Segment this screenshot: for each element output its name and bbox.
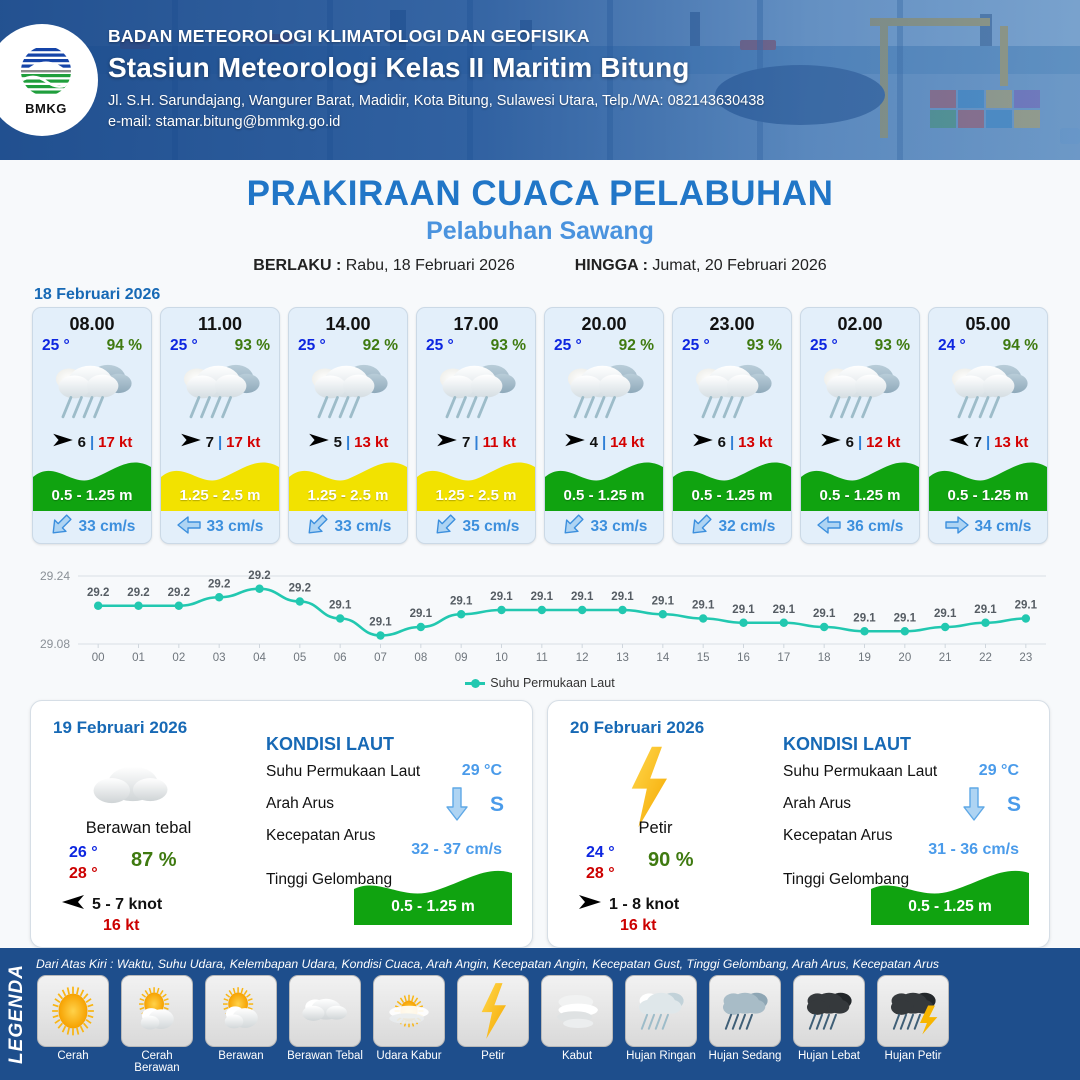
day-wind-gust: 16 kt [620, 917, 656, 935]
current-direction-arrow-icon [817, 515, 841, 540]
wave-height-value: 0.5 - 1.25 m [33, 487, 151, 504]
day-humidity: 87 % [131, 849, 177, 872]
svg-text:04: 04 [253, 652, 266, 664]
day-wave-value: 0.5 - 1.25 m [354, 898, 512, 916]
card-current-row: 32 cm/s [673, 511, 791, 543]
wind-direction-arrow-icon [180, 432, 202, 453]
current-direction-arrow-icon [305, 515, 329, 540]
svg-text:05: 05 [293, 652, 306, 664]
wave-height-value: 0.5 - 1.25 m [545, 487, 663, 504]
valid-from-label: BERLAKU : [253, 257, 341, 274]
card-temperature: 25 ° [810, 337, 838, 355]
svg-text:16: 16 [737, 652, 750, 664]
svg-text:29.1: 29.1 [773, 604, 796, 616]
svg-text:29.2: 29.2 [289, 583, 311, 595]
card-current-row: 34 cm/s [929, 511, 1047, 543]
sst-label: Suhu Permukaan Laut [266, 763, 420, 781]
card-humidity: 92 % [619, 337, 654, 355]
day-date: 20 Februari 2026 [570, 718, 704, 738]
svg-text:00: 00 [92, 652, 105, 664]
svg-text:29.1: 29.1 [652, 595, 675, 607]
svg-text:29.1: 29.1 [531, 591, 554, 603]
svg-text:29.24: 29.24 [40, 569, 70, 583]
card-temp-hum-row: 25 ° 92 % [289, 335, 407, 355]
wind-separator: | [218, 434, 222, 451]
day-temp-min: 26 ° [69, 844, 98, 862]
card-wind-row: 7 | 11 kt [417, 429, 535, 455]
wind-gust-value: 13 kt [994, 434, 1028, 451]
svg-text:19: 19 [858, 652, 871, 664]
legend-icon-tile [709, 975, 781, 1047]
card-temperature: 25 ° [426, 337, 454, 355]
current-direction-value: S [490, 793, 504, 817]
forecast-card[interactable]: 08.00 25 ° 94 % 6 | 17 kt [32, 307, 152, 544]
legend-item-list: Cerah Cerah Berawan Berawan Berawan Teba… [34, 975, 1072, 1074]
svg-text:01: 01 [132, 652, 145, 664]
wind-direction-arrow-icon [820, 432, 842, 453]
wind-gust-value: 17 kt [98, 434, 132, 451]
legend-item: Hujan Ringan [622, 975, 700, 1074]
legend-item-label: Udara Kabur [370, 1050, 448, 1062]
card-temp-hum-row: 25 ° 94 % [33, 335, 151, 355]
wind-direction-arrow-icon [948, 432, 970, 453]
page-title: PRAKIRAAN CUACA PELABUHAN [0, 174, 1080, 214]
wind-direction-arrow-icon [564, 432, 586, 453]
sst-value: 29 °C [979, 762, 1019, 780]
card-humidity: 94 % [1003, 337, 1038, 355]
wind-direction-value: 5 [334, 434, 342, 451]
legend-item-label: Berawan [202, 1050, 280, 1062]
legend-item-label: Kabut [538, 1050, 616, 1062]
card-temperature: 25 ° [682, 337, 710, 355]
legend-bar: LEGENDA Dari Atas Kiri : Waktu, Suhu Uda… [0, 948, 1080, 1080]
chart-legend-marker [465, 682, 485, 685]
day-wind-direction-arrow-icon [61, 893, 85, 916]
forecast-card[interactable]: 02.00 25 ° 93 % 6 | 12 kt [800, 307, 920, 544]
legend-icon-tile [793, 975, 865, 1047]
svg-text:29.1: 29.1 [692, 600, 715, 612]
legend-item: Udara Kabur [370, 975, 448, 1074]
legend-icon-tile [373, 975, 445, 1047]
day-wind-direction-arrow-icon [578, 893, 602, 916]
svg-text:29.1: 29.1 [813, 608, 836, 620]
current-direction-label: Arah Arus [783, 795, 851, 813]
card-temperature: 25 ° [554, 337, 582, 355]
current-speed-label: Kecepatan Arus [266, 827, 375, 845]
card-humidity: 93 % [235, 337, 270, 355]
chart-legend-label: Suhu Permukaan Laut [490, 676, 614, 690]
weather-icon [161, 355, 279, 429]
station-email: e-mail: stamar.bitung@bmmkg.go.id [108, 114, 764, 130]
wave-height-value: 0.5 - 1.25 m [801, 487, 919, 504]
card-time: 20.00 [545, 314, 663, 335]
wave-height-block: 0.5 - 1.25 m [545, 457, 663, 511]
wind-direction-arrow-icon [308, 432, 330, 453]
current-direction-arrow-icon [433, 515, 457, 540]
card-wind-row: 7 | 17 kt [161, 429, 279, 455]
wave-height-block: 0.5 - 1.25 m [673, 457, 791, 511]
wind-separator: | [730, 434, 734, 451]
legend-item: Kabut [538, 975, 616, 1074]
current-speed-value: 33 cm/s [591, 518, 648, 536]
legend-icon-tile [541, 975, 613, 1047]
valid-until: HINGGA : Jumat, 20 Februari 2026 [575, 257, 827, 275]
current-speed-label: Kecepatan Arus [783, 827, 892, 845]
svg-text:03: 03 [213, 652, 226, 664]
legend-icon-tile [37, 975, 109, 1047]
card-current-row: 33 cm/s [161, 511, 279, 543]
day-temp-max: 28 ° [586, 865, 615, 883]
legend-item-label: Berawan Tebal [286, 1050, 364, 1062]
svg-text:29.2: 29.2 [248, 570, 270, 582]
card-time: 17.00 [417, 314, 535, 335]
wind-gust-value: 17 kt [226, 434, 260, 451]
card-current-row: 35 cm/s [417, 511, 535, 543]
sst-value: 29 °C [462, 762, 502, 780]
wave-height-block: 1.25 - 2.5 m [289, 457, 407, 511]
legend-item: Hujan Petir [874, 975, 952, 1074]
legend-side-title-text: LEGENDA [6, 964, 28, 1064]
day-wave-value: 0.5 - 1.25 m [871, 898, 1029, 916]
card-current-row: 33 cm/s [545, 511, 663, 543]
current-direction-arrow-icon [963, 787, 985, 826]
legend-icon-tile [457, 975, 529, 1047]
wave-height-value: 1.25 - 2.5 m [417, 487, 535, 504]
legend-item: Hujan Sedang [706, 975, 784, 1074]
svg-text:13: 13 [616, 652, 629, 664]
wind-direction-value: 7 [974, 434, 982, 451]
day-date: 19 Februari 2026 [53, 718, 187, 738]
svg-text:29.1: 29.1 [974, 604, 997, 616]
validity-row: BERLAKU : Rabu, 18 Februari 2026 HINGGA … [0, 257, 1080, 275]
wind-direction-value: 4 [590, 434, 598, 451]
current-speed-value: 36 cm/s [847, 518, 904, 536]
card-temp-hum-row: 25 ° 93 % [417, 335, 535, 355]
daily-forecast-panel[interactable]: 20 Februari 2026 Petir 24 ° 28 ° 90 % 1 … [547, 700, 1050, 948]
wind-direction-value: 6 [718, 434, 726, 451]
svg-text:29.08: 29.08 [40, 637, 70, 651]
current-speed-value: 33 cm/s [207, 518, 264, 536]
day-wind-row: 5 - 7 knot [61, 893, 162, 916]
legend-item-label: Hujan Lebat [790, 1050, 868, 1062]
current-direction-arrow-icon [561, 515, 585, 540]
svg-text:09: 09 [455, 652, 468, 664]
station-name: Stasiun Meteorologi Kelas II Maritim Bit… [108, 52, 764, 84]
legend-body: Dari Atas Kiri : Waktu, Suhu Udara, Kele… [34, 948, 1080, 1080]
svg-text:29.1: 29.1 [894, 612, 917, 624]
svg-text:11: 11 [536, 652, 548, 664]
wind-direction-arrow-icon [436, 432, 458, 453]
legend-item: Berawan [202, 975, 280, 1074]
card-wind-row: 6 | 12 kt [801, 429, 919, 455]
card-current-row: 33 cm/s [289, 511, 407, 543]
card-temp-hum-row: 25 ° 93 % [673, 335, 791, 355]
svg-text:14: 14 [656, 652, 669, 664]
svg-text:29.2: 29.2 [87, 587, 109, 599]
page-subtitle: Pelabuhan Sawang [0, 217, 1080, 246]
station-address: Jl. S.H. Sarundajang, Wangurer Barat, Ma… [108, 93, 764, 109]
wind-separator: | [90, 434, 94, 451]
card-time: 11.00 [161, 314, 279, 335]
legend-item: Cerah Berawan [118, 975, 196, 1074]
daily-forecast-panel[interactable]: 19 Februari 2026 Berawan tebal 26 ° 28 °… [30, 700, 533, 948]
weather-icon [929, 355, 1047, 429]
svg-text:22: 22 [979, 652, 992, 664]
wind-separator: | [858, 434, 862, 451]
wind-direction-value: 7 [206, 434, 214, 451]
svg-text:08: 08 [414, 652, 427, 664]
legend-item-label: Cerah Berawan [118, 1050, 196, 1074]
daily-forecast-list: 19 Februari 2026 Berawan tebal 26 ° 28 °… [0, 690, 1080, 948]
current-speed-value: 35 cm/s [463, 518, 520, 536]
day-wave-shape-icon [354, 867, 512, 925]
day-wave-shape-icon [871, 867, 1029, 925]
svg-text:29.1: 29.1 [329, 600, 352, 612]
sea-condition-title: KONDISI LAUT [266, 734, 394, 755]
svg-text:29.1: 29.1 [732, 604, 755, 616]
card-humidity: 92 % [363, 337, 398, 355]
weather-icon [289, 355, 407, 429]
legend-item-label: Petir [454, 1050, 532, 1062]
svg-text:29.2: 29.2 [208, 578, 230, 590]
chart-legend: Suhu Permukaan Laut [0, 676, 1080, 690]
wind-direction-value: 7 [462, 434, 470, 451]
svg-text:29.1: 29.1 [410, 608, 433, 620]
svg-text:29.2: 29.2 [127, 587, 149, 599]
legend-icon-tile [877, 975, 949, 1047]
current-direction-arrow-icon [945, 515, 969, 540]
weather-icon [673, 355, 791, 429]
card-humidity: 93 % [491, 337, 526, 355]
current-speed-value: 31 - 36 cm/s [928, 841, 1019, 859]
svg-text:29.2: 29.2 [168, 587, 190, 599]
weather-icon [33, 355, 151, 429]
bmkg-logo-text: BMKG [25, 101, 67, 116]
forecast-card[interactable]: 17.00 25 ° 93 % 7 | 11 kt [416, 307, 536, 544]
svg-text:02: 02 [172, 652, 185, 664]
forecast-card[interactable]: 23.00 25 ° 93 % 6 | 13 kt [672, 307, 792, 544]
legend-icon-tile [121, 975, 193, 1047]
svg-text:17: 17 [777, 652, 790, 664]
card-temperature: 25 ° [42, 337, 70, 355]
wind-gust-value: 11 kt [483, 434, 516, 451]
weather-icon [417, 355, 535, 429]
wind-separator: | [474, 434, 478, 451]
day-wind-row: 1 - 8 knot [578, 893, 679, 916]
wind-gust-value: 14 kt [610, 434, 644, 451]
legend-icon-tile [625, 975, 697, 1047]
current-speed-value: 33 cm/s [335, 518, 392, 536]
card-current-row: 36 cm/s [801, 511, 919, 543]
header-banner: BMKG BADAN METEOROLOGI KLIMATOLOGI DAN G… [0, 0, 1080, 160]
wind-separator: | [602, 434, 606, 451]
card-wind-row: 6 | 17 kt [33, 429, 151, 455]
weather-icon [545, 355, 663, 429]
card-temp-hum-row: 24 ° 94 % [929, 335, 1047, 355]
svg-text:18: 18 [818, 652, 831, 664]
svg-text:29.1: 29.1 [1015, 600, 1038, 612]
wind-direction-value: 6 [846, 434, 854, 451]
wind-direction-value: 6 [78, 434, 86, 451]
svg-text:29.1: 29.1 [490, 591, 513, 603]
card-humidity: 93 % [875, 337, 910, 355]
legend-item: Cerah [34, 975, 112, 1074]
forecast-card[interactable]: 11.00 25 ° 93 % 7 | 17 kt [160, 307, 280, 544]
card-wind-row: 7 | 13 kt [929, 429, 1047, 455]
wind-separator: | [346, 434, 350, 451]
legend-icon-tile [289, 975, 361, 1047]
current-direction-arrow-icon [49, 515, 73, 540]
current-direction-arrow-icon [446, 787, 468, 826]
legend-note: Dari Atas Kiri : Waktu, Suhu Udara, Kele… [34, 952, 1072, 975]
current-speed-value: 32 - 37 cm/s [411, 841, 502, 859]
wave-height-block: 0.5 - 1.25 m [33, 457, 151, 511]
day-temp-min: 24 ° [586, 844, 615, 862]
forecast-date-label: 18 Februari 2026 [34, 286, 1080, 304]
legend-icon-tile [205, 975, 277, 1047]
card-time: 14.00 [289, 314, 407, 335]
day-weather-icon [83, 749, 179, 825]
legend-item-label: Hujan Ringan [622, 1050, 700, 1062]
svg-text:29.1: 29.1 [611, 591, 634, 603]
card-time: 02.00 [801, 314, 919, 335]
legend-item: Hujan Lebat [790, 975, 868, 1074]
wave-height-value: 1.25 - 2.5 m [161, 487, 279, 504]
svg-text:29.1: 29.1 [853, 612, 876, 624]
svg-text:07: 07 [374, 652, 387, 664]
wave-height-value: 0.5 - 1.25 m [929, 487, 1047, 504]
card-wind-row: 5 | 13 kt [289, 429, 407, 455]
current-speed-value: 33 cm/s [79, 518, 136, 536]
card-temp-hum-row: 25 ° 92 % [545, 335, 663, 355]
svg-text:15: 15 [697, 652, 710, 664]
day-weather-icon [600, 749, 696, 825]
svg-text:29.1: 29.1 [571, 591, 594, 603]
current-speed-value: 34 cm/s [975, 518, 1032, 536]
legend-item-label: Hujan Petir [874, 1050, 952, 1062]
svg-text:21: 21 [939, 652, 952, 664]
wind-gust-value: 13 kt [354, 434, 388, 451]
day-wind-speed: 5 - 7 knot [92, 896, 162, 914]
current-direction-arrow-icon [177, 515, 201, 540]
svg-text:29.1: 29.1 [450, 595, 473, 607]
card-wind-row: 6 | 13 kt [673, 429, 791, 455]
wave-height-block: 0.5 - 1.25 m [801, 457, 919, 511]
sst-chart-svg: 29.2429.0829.20029.20129.20229.20329.204… [20, 554, 1060, 674]
svg-text:10: 10 [495, 652, 508, 664]
valid-until-label: HINGGA : [575, 257, 648, 274]
wind-direction-arrow-icon [692, 432, 714, 453]
card-humidity: 94 % [107, 337, 142, 355]
wind-gust-value: 13 kt [738, 434, 772, 451]
day-wind-gust: 16 kt [103, 917, 139, 935]
card-wind-row: 4 | 14 kt [545, 429, 663, 455]
legend-item: Petir [454, 975, 532, 1074]
card-humidity: 93 % [747, 337, 782, 355]
current-direction-value: S [1007, 793, 1021, 817]
current-direction-label: Arah Arus [266, 795, 334, 813]
card-temp-hum-row: 25 ° 93 % [161, 335, 279, 355]
svg-text:06: 06 [334, 652, 347, 664]
sst-chart: 29.2429.0829.20029.20129.20229.20329.204… [20, 554, 1060, 674]
card-time: 23.00 [673, 314, 791, 335]
day-wave-block: 0.5 - 1.25 m [871, 867, 1029, 925]
sst-label: Suhu Permukaan Laut [783, 763, 937, 781]
svg-text:20: 20 [898, 652, 911, 664]
forecast-card-list: 08.00 25 ° 94 % 6 | 17 kt [0, 307, 1080, 544]
svg-text:29.1: 29.1 [934, 608, 957, 620]
card-time: 05.00 [929, 314, 1047, 335]
card-temperature: 24 ° [938, 337, 966, 355]
poster-root: BMKG BADAN METEOROLOGI KLIMATOLOGI DAN G… [0, 0, 1080, 1080]
agency-name: BADAN METEOROLOGI KLIMATOLOGI DAN GEOFIS… [108, 26, 764, 47]
legend-item-label: Hujan Sedang [706, 1050, 784, 1062]
weather-icon [801, 355, 919, 429]
card-time: 08.00 [33, 314, 151, 335]
forecast-card[interactable]: 14.00 25 ° 92 % 5 | 13 kt [288, 307, 408, 544]
valid-from-value: Rabu, 18 Februari 2026 [346, 257, 515, 274]
wave-height-block: 0.5 - 1.25 m [929, 457, 1047, 511]
current-direction-arrow-icon [689, 515, 713, 540]
card-temp-hum-row: 25 ° 93 % [801, 335, 919, 355]
legend-item: Berawan Tebal [286, 975, 364, 1074]
card-current-row: 33 cm/s [33, 511, 151, 543]
day-wave-block: 0.5 - 1.25 m [354, 867, 512, 925]
day-condition: Petir [548, 819, 763, 838]
valid-until-value: Jumat, 20 Februari 2026 [652, 257, 826, 274]
legend-item-label: Cerah [34, 1050, 112, 1062]
valid-from: BERLAKU : Rabu, 18 Februari 2026 [253, 257, 514, 275]
sea-condition-title: KONDISI LAUT [783, 734, 911, 755]
day-wind-speed: 1 - 8 knot [609, 896, 679, 914]
wave-height-value: 1.25 - 2.5 m [289, 487, 407, 504]
card-temperature: 25 ° [298, 337, 326, 355]
header-text-block: BADAN METEOROLOGI KLIMATOLOGI DAN GEOFIS… [108, 26, 764, 130]
current-speed-value: 32 cm/s [719, 518, 776, 536]
wind-separator: | [986, 434, 990, 451]
svg-text:12: 12 [576, 652, 589, 664]
wave-height-block: 1.25 - 2.5 m [417, 457, 535, 511]
wind-gust-value: 12 kt [866, 434, 900, 451]
svg-text:29.1: 29.1 [369, 617, 392, 629]
bmkg-logo-icon [15, 44, 77, 100]
wind-direction-arrow-icon [52, 432, 74, 453]
day-temp-max: 28 ° [69, 865, 98, 883]
day-condition: Berawan tebal [31, 819, 246, 838]
day-humidity: 90 % [648, 849, 694, 872]
legend-side-title: LEGENDA [0, 948, 34, 1080]
wave-height-value: 0.5 - 1.25 m [673, 487, 791, 504]
svg-text:23: 23 [1019, 652, 1032, 664]
forecast-card[interactable]: 20.00 25 ° 92 % 4 | 14 kt [544, 307, 664, 544]
wave-height-block: 1.25 - 2.5 m [161, 457, 279, 511]
forecast-card[interactable]: 05.00 24 ° 94 % 7 | 13 kt [928, 307, 1048, 544]
card-temperature: 25 ° [170, 337, 198, 355]
